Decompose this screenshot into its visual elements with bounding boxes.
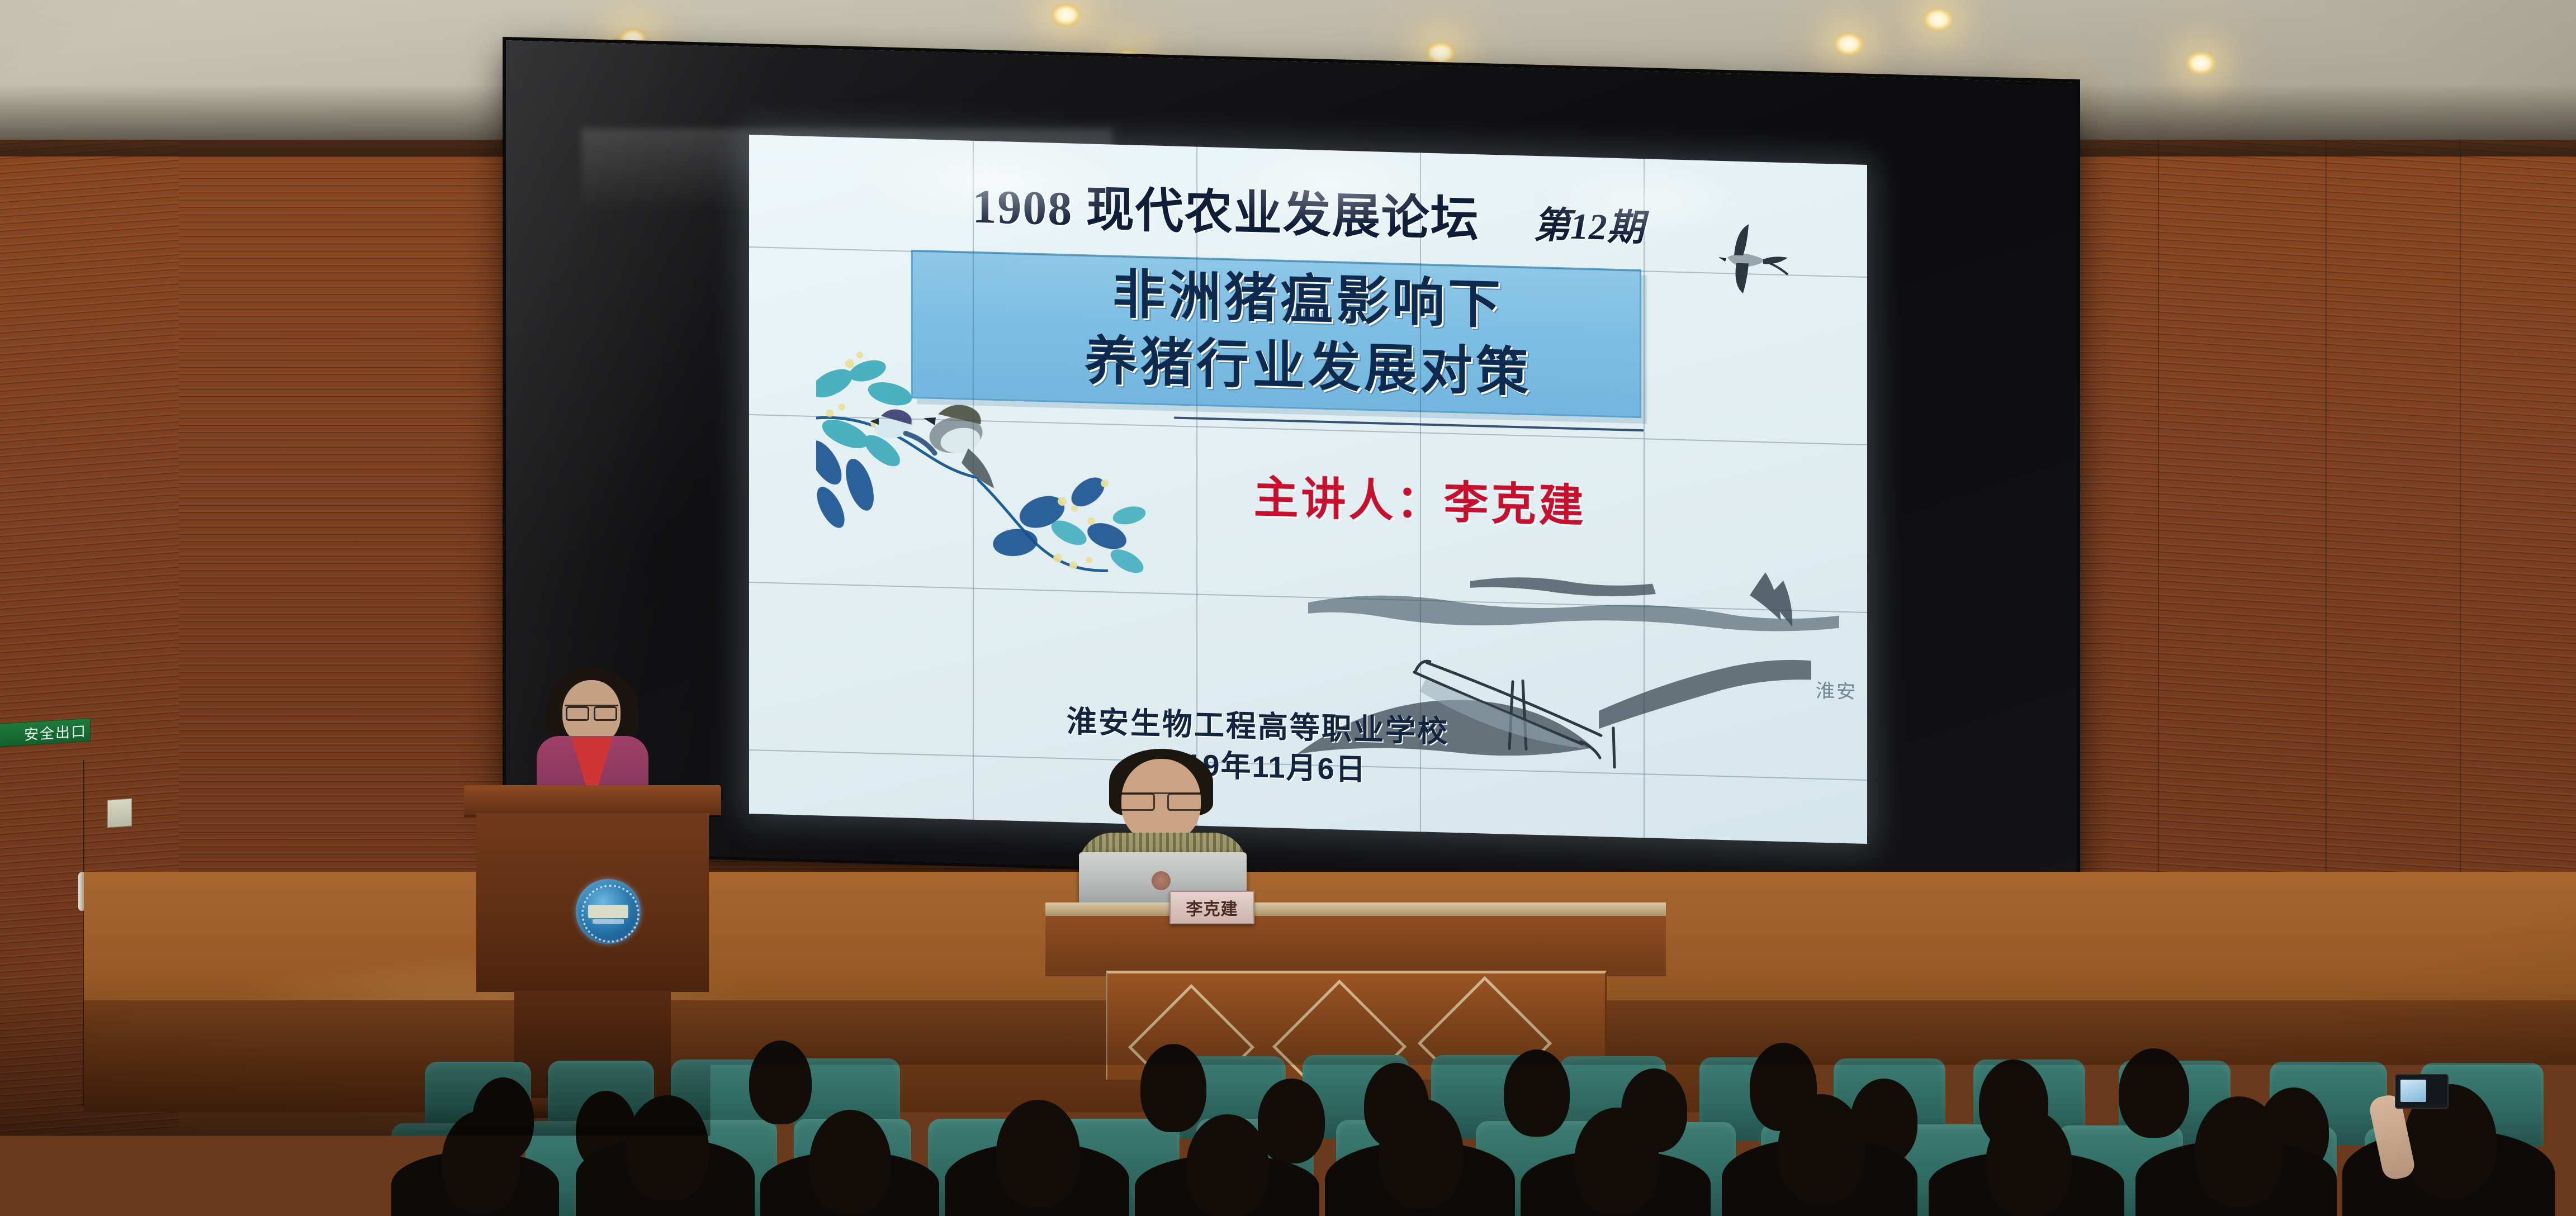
audience-head xyxy=(1258,1079,1325,1163)
podium-top xyxy=(464,785,721,815)
audience-head xyxy=(1140,1044,1206,1132)
table-apron xyxy=(1045,916,1666,976)
audience-head xyxy=(2119,1048,2189,1138)
phone-icon xyxy=(2395,1074,2449,1109)
audience-head xyxy=(442,1111,520,1214)
ceiling-spotlight xyxy=(1051,3,1081,27)
slide-header: 1908 现代农业发展论坛 第12期 xyxy=(749,160,1867,260)
table-top xyxy=(1045,902,1666,917)
audience-head xyxy=(749,1041,812,1124)
led-tile-seam xyxy=(1420,153,1421,832)
photo-watermark: 淮安生物 xyxy=(2461,1175,2568,1210)
slide-watermark: 淮安 xyxy=(1816,676,1857,704)
audience-head xyxy=(2195,1096,2283,1207)
led-tile-seam xyxy=(1196,147,1197,826)
led-tile-seam xyxy=(973,141,974,820)
speaker-nameplate: 李克建 xyxy=(1169,891,1254,924)
audience-head xyxy=(996,1100,1080,1207)
audience-head xyxy=(626,1095,709,1201)
audience-head xyxy=(1379,1099,1464,1208)
audience-head xyxy=(1504,1049,1570,1137)
presentation-slide: 1908 现代农业发展论坛 第12期 非洲猪瘟影响下 养猪行业发展对策 主讲人：… xyxy=(749,135,1867,844)
audience-head xyxy=(1778,1094,1865,1205)
slide-divider-rule xyxy=(1174,417,1644,432)
ceiling-spotlight xyxy=(1834,32,1864,56)
led-tile-seam xyxy=(1644,159,1645,838)
podium-presenter xyxy=(537,668,648,796)
presenter-glasses-icon xyxy=(565,705,618,719)
ink-landscape-painting xyxy=(1286,535,1867,841)
podium-body xyxy=(476,813,709,992)
audience-head xyxy=(1186,1114,1269,1216)
painted-bird-large xyxy=(924,404,994,488)
lecture-hall-scene: 1908 现代农业发展论坛 第12期 非洲猪瘟影响下 养猪行业发展对策 主讲人：… xyxy=(0,0,2576,1216)
ceiling-spotlight xyxy=(1426,41,1456,65)
forum-issue-number: 第12期 xyxy=(1533,195,1644,251)
audience-head xyxy=(1986,1110,2072,1216)
school-crest-icon xyxy=(576,879,641,944)
phone-screen xyxy=(2400,1080,2426,1102)
audience-head xyxy=(1574,1108,1659,1215)
audience-head xyxy=(809,1110,891,1215)
light-switch-plate[interactable] xyxy=(107,798,132,828)
forum-title: 1908 现代农业发展论坛 xyxy=(972,167,1480,250)
presentation-display[interactable]: 1908 现代农业发展论坛 第12期 非洲猪瘟影响下 养猪行业发展对策 主讲人：… xyxy=(749,135,1867,844)
ceiling-spotlight xyxy=(2186,51,2216,75)
speaker-glasses-icon xyxy=(1119,792,1203,809)
laptop-logo xyxy=(1152,871,1171,890)
ceiling-spotlight xyxy=(1923,8,1953,31)
